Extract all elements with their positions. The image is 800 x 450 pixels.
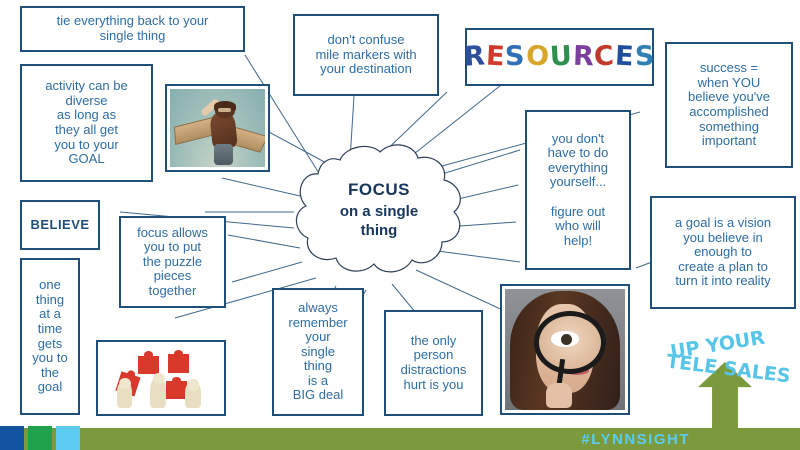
cloud-text: FOCUS on a single thing xyxy=(288,142,470,278)
resources-letter: E xyxy=(485,41,506,72)
cloud-line-2: on a single xyxy=(340,202,418,222)
distractions-box[interactable]: the only person distractions hurt is you xyxy=(384,310,483,416)
up-your-tele-sales-logo[interactable]: UP YOUR TELE SALES xyxy=(664,332,792,428)
wing-left-shape xyxy=(174,117,214,144)
focus-puzzle-box[interactable]: focus allows you to put the puzzle piece… xyxy=(119,216,226,308)
puzzle-photo-frame[interactable] xyxy=(96,340,226,416)
puzzle-piece-icon xyxy=(168,354,188,372)
one-thing-text: one thing at a time gets you to the goal xyxy=(28,276,71,396)
distractions-text: the only person distractions hurt is you xyxy=(397,332,471,394)
delegate-text: you don't have to do everything yourself… xyxy=(544,130,613,250)
puzzle-photo xyxy=(101,345,221,411)
one-thing-box[interactable]: one thing at a time gets you to the goal xyxy=(20,258,80,415)
mindmap-canvas: tie everything back to your single thing… xyxy=(0,0,800,450)
believe-box[interactable]: BELIEVE xyxy=(20,200,100,250)
resources-letter: C xyxy=(593,41,616,73)
hand-shape xyxy=(546,383,572,407)
aviator-photo xyxy=(170,89,265,167)
resources-letter: S xyxy=(634,42,655,73)
aviator-photo-frame[interactable] xyxy=(165,84,270,172)
cloud-line-3: thing xyxy=(361,221,398,241)
activity-diverse-text: activity can be diverse as long as they … xyxy=(41,77,131,168)
resources-letter: O xyxy=(525,41,551,73)
tie-everything-text: tie everything back to your single thing xyxy=(53,12,213,45)
success-box[interactable]: success = when YOU believe you've accomp… xyxy=(665,42,793,168)
figure-head-shape xyxy=(187,379,199,390)
cloud-line-1: FOCUS xyxy=(348,179,410,201)
believe-text: BELIEVE xyxy=(26,216,93,235)
footer-swatch-green xyxy=(28,426,52,450)
always-remember-text: always remember your single thing is a B… xyxy=(284,299,351,405)
footer-bar: #LYNNSIGHT xyxy=(0,426,800,450)
tie-everything-box[interactable]: tie everything back to your single thing xyxy=(20,6,245,52)
mile-markers-text: don't confuse mile markers with your des… xyxy=(311,31,420,79)
pupil-shape xyxy=(561,334,572,345)
footer-swatch-cyan xyxy=(56,426,80,450)
resources-box[interactable]: RESOURCES xyxy=(465,28,654,86)
hashtag-lynnsight: #LYNNSIGHT xyxy=(581,431,690,448)
mile-markers-box[interactable]: don't confuse mile markers with your des… xyxy=(293,14,439,96)
resources-letter: E xyxy=(614,41,635,72)
success-text: success = when YOU believe you've accomp… xyxy=(684,59,774,150)
magnifier-photo xyxy=(505,289,625,410)
goal-vision-box[interactable]: a goal is a vision you believe in enough… xyxy=(650,196,796,309)
delegate-box[interactable]: you don't have to do everything yourself… xyxy=(525,110,631,270)
resources-letter: S xyxy=(505,42,526,73)
focus-cloud[interactable]: FOCUS on a single thing xyxy=(288,142,470,278)
resources-word: RESOURCES xyxy=(467,30,652,84)
resources-letter: U xyxy=(549,41,573,72)
focus-puzzle-text: focus allows you to put the puzzle piece… xyxy=(133,224,212,301)
footer-swatch-blue xyxy=(0,426,24,450)
puzzle-piece-icon xyxy=(138,356,158,374)
magnifier-photo-frame[interactable] xyxy=(500,284,630,415)
figure-head-shape xyxy=(153,373,165,384)
goggles-shape xyxy=(218,108,231,113)
resources-letter: R xyxy=(463,41,487,73)
resources-letter: R xyxy=(572,42,595,73)
always-remember-box[interactable]: always remember your single thing is a B… xyxy=(272,288,364,416)
goal-vision-text: a goal is a vision you believe in enough… xyxy=(671,214,775,291)
activity-diverse-box[interactable]: activity can be diverse as long as they … xyxy=(20,64,153,182)
legs-shape xyxy=(214,144,233,166)
